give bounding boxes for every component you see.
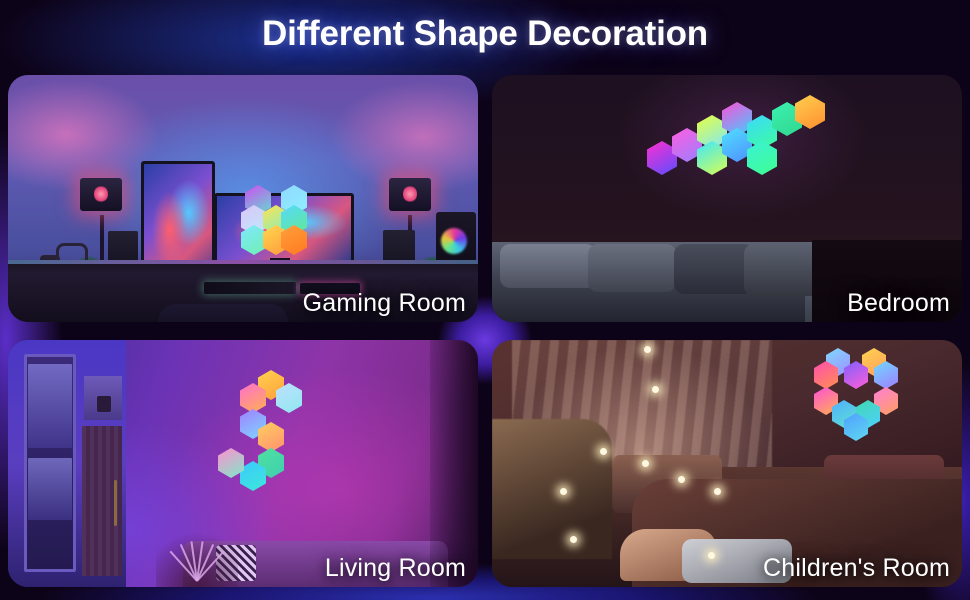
palm-plant: [156, 509, 238, 587]
pillow-1: [500, 244, 596, 288]
gaming-room-photo: [8, 75, 478, 322]
fairy-light: [652, 386, 659, 393]
glass-door: [24, 354, 76, 572]
living-room-right-wall: [430, 340, 478, 587]
table-lamp-right: [389, 178, 431, 211]
room-panel-gaming-room[interactable]: Gaming Room: [8, 75, 478, 322]
fairy-light: [678, 476, 685, 483]
room-panel-bedroom[interactable]: Bedroom: [492, 75, 962, 322]
room-label-gaming-room: Gaming Room: [303, 289, 466, 318]
pillow-3: [674, 244, 754, 294]
desk-led-edge: [8, 260, 478, 264]
shelf-plant: [97, 396, 111, 412]
gaming-chair: [158, 304, 288, 322]
page-title: Different Shape Decoration: [0, 14, 970, 54]
wall-shelf: [84, 376, 122, 420]
bedroom-photo: [492, 75, 962, 322]
room-panel-living-room[interactable]: Living Room: [8, 340, 478, 587]
fairy-light: [642, 460, 649, 467]
pillow-2: [588, 244, 676, 292]
fairy-light: [560, 488, 567, 495]
door-glass-upper: [28, 364, 72, 448]
room-label-living-room: Living Room: [325, 554, 466, 583]
table-lamp-left: [80, 178, 122, 211]
childrens-room-photo: [492, 340, 962, 587]
fairy-light: [570, 536, 577, 543]
living-room-photo: [8, 340, 478, 587]
door-handle: [114, 480, 117, 526]
wooden-panel-door: [82, 426, 122, 576]
room-panel-childrens-room[interactable]: Children's Room: [492, 340, 962, 587]
fairy-light: [708, 552, 715, 559]
keyboard: [204, 282, 296, 294]
room-label-childrens-room: Children's Room: [763, 554, 950, 583]
fur-throw: [492, 419, 612, 559]
pillow-4: [744, 244, 820, 296]
room-panel-grid: Gaming Room Bedroom: [8, 75, 962, 587]
door-glass-mid: [28, 458, 72, 520]
fairy-light: [600, 448, 607, 455]
fairy-light: [714, 488, 721, 495]
room-label-bedroom: Bedroom: [847, 289, 950, 318]
fairy-light: [644, 346, 651, 353]
